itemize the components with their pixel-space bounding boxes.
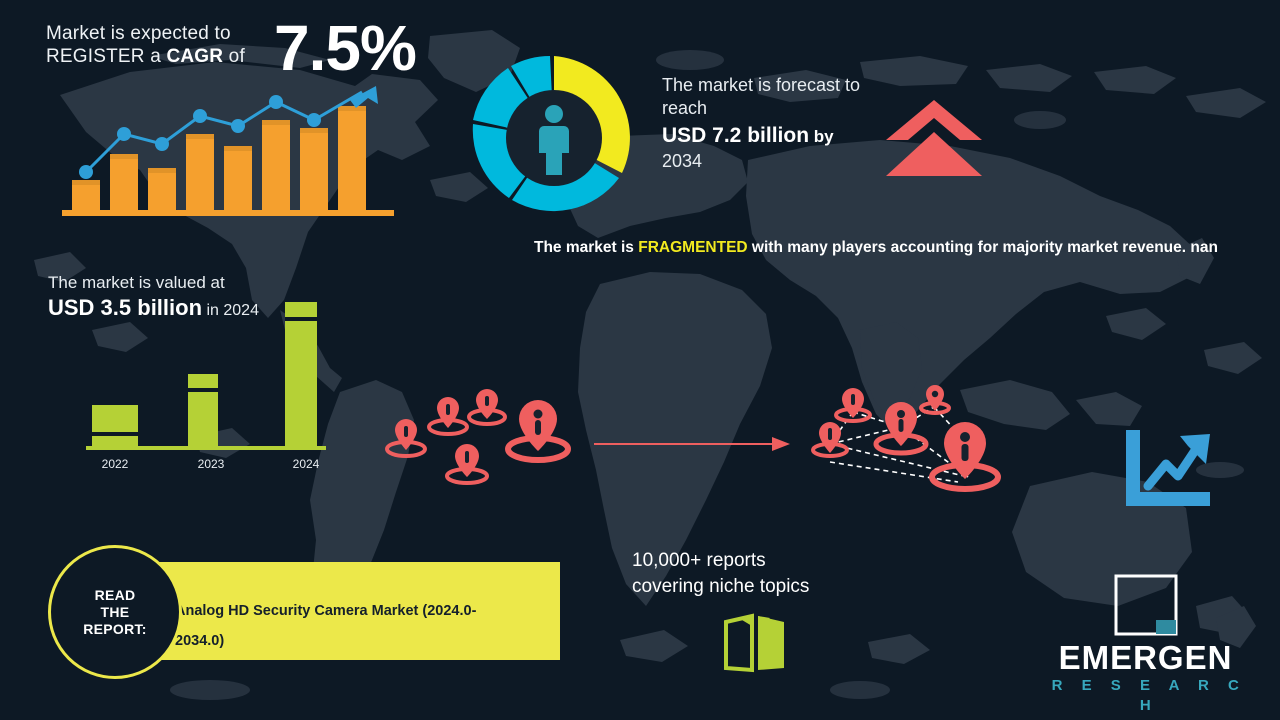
reports-count-line-2: covering niche topics (632, 574, 932, 600)
market-valuation-chart: 2022 2023 2024 (78, 292, 343, 472)
forecast-year: 2034 (662, 150, 912, 172)
double-up-arrow-icon (884, 98, 984, 178)
bar-2024-divider (285, 317, 317, 321)
map-pin-large-1 (508, 400, 568, 460)
tick-label-2022: 2022 (102, 457, 129, 471)
logo-wordmark: EMERGEN (1038, 640, 1253, 676)
fragmentation-highlight: FRAGMENTED (638, 239, 747, 256)
left-marker-cluster (382, 386, 582, 491)
forecast-line-1: The market is forecast to (662, 74, 912, 97)
valuation-bars (92, 302, 317, 448)
cagr-label: CAGR (166, 46, 223, 67)
logo-accent (1156, 620, 1176, 634)
tick-label-2024: 2024 (293, 457, 320, 471)
read-report-label-line-2: THE (83, 604, 147, 621)
valuation-line-1: The market is valued at (48, 272, 348, 294)
right-marker-cluster (808, 382, 1023, 502)
map-pin-small-2 (429, 397, 467, 434)
growth-baseline (62, 210, 394, 216)
forecast-value-row: USD 7.2 billion by (662, 123, 912, 150)
infographic-canvas: Market is expected to REGISTER a CAGR of… (0, 0, 1280, 720)
book-right-page (758, 616, 784, 670)
read-report-label-line-1: READ (83, 587, 147, 604)
cagr-line-2-suffix: of (223, 46, 245, 67)
book-left-page (726, 616, 752, 670)
fragmentation-suffix: with many players accounting for majorit… (748, 239, 1218, 256)
emergen-research-logo: EMERGEN R E S E A R C H (1038, 572, 1253, 716)
chart-trend-line (1148, 446, 1198, 486)
bar-2022-divider (92, 432, 138, 436)
map-pin-small-1 (387, 419, 425, 456)
growth-trend-chart (62, 82, 412, 224)
bar-2023-divider (188, 388, 218, 392)
map-pin-node-2 (921, 385, 949, 413)
reports-count-line-1: 10,000+ reports (632, 548, 932, 574)
map-pin-small-4 (447, 444, 487, 483)
fragmentation-text-block: The market is FRAGMENTED with many playe… (534, 236, 1224, 259)
cagr-text-block: Market is expected to REGISTER a CAGR of… (46, 22, 466, 68)
report-title: Analog HD Security Camera Market (2024.0… (175, 596, 505, 656)
valuation-axis (86, 446, 326, 450)
bar-2023 (188, 374, 218, 448)
fragmentation-prefix: The market is (534, 239, 638, 256)
logo-subtitle: R E S E A R C H (1038, 676, 1253, 716)
map-pin-node-5 (932, 422, 998, 489)
tick-label-2023: 2023 (198, 457, 225, 471)
forecast-value: USD 7.2 billion (662, 124, 809, 147)
bar-2022 (92, 405, 138, 448)
reports-count-block: 10,000+ reports covering niche topics (632, 548, 932, 600)
read-report-label: READ THE REPORT: (83, 587, 147, 638)
forecast-by: by (809, 127, 834, 146)
valuation-tick-labels: 2022 2023 2024 (102, 457, 320, 471)
flow-arrow-head (772, 437, 790, 451)
market-share-donut-chart (464, 48, 644, 228)
forecast-line-2: reach (662, 97, 912, 120)
read-report-bar[interactable]: Analog HD Security Camera Market (2024.0… (155, 562, 560, 660)
open-book-icon (722, 612, 794, 674)
read-report-button[interactable]: READ THE REPORT: (48, 545, 182, 679)
forecast-text-block: The market is forecast to reach USD 7.2 … (662, 74, 912, 172)
line-chart-up-icon (1122, 428, 1214, 510)
logo-mark (1038, 572, 1253, 640)
cagr-line-2-prefix: REGISTER a (46, 46, 166, 67)
cagr-value: 7.5% (274, 16, 416, 80)
map-pin-node-4 (876, 402, 926, 453)
map-pin-small-3 (469, 389, 505, 424)
fragmentation-sentence: The market is FRAGMENTED with many playe… (534, 236, 1224, 259)
read-report-label-line-3: REPORT: (83, 621, 147, 638)
bar-2024 (285, 302, 317, 448)
flow-arrow (594, 432, 794, 456)
